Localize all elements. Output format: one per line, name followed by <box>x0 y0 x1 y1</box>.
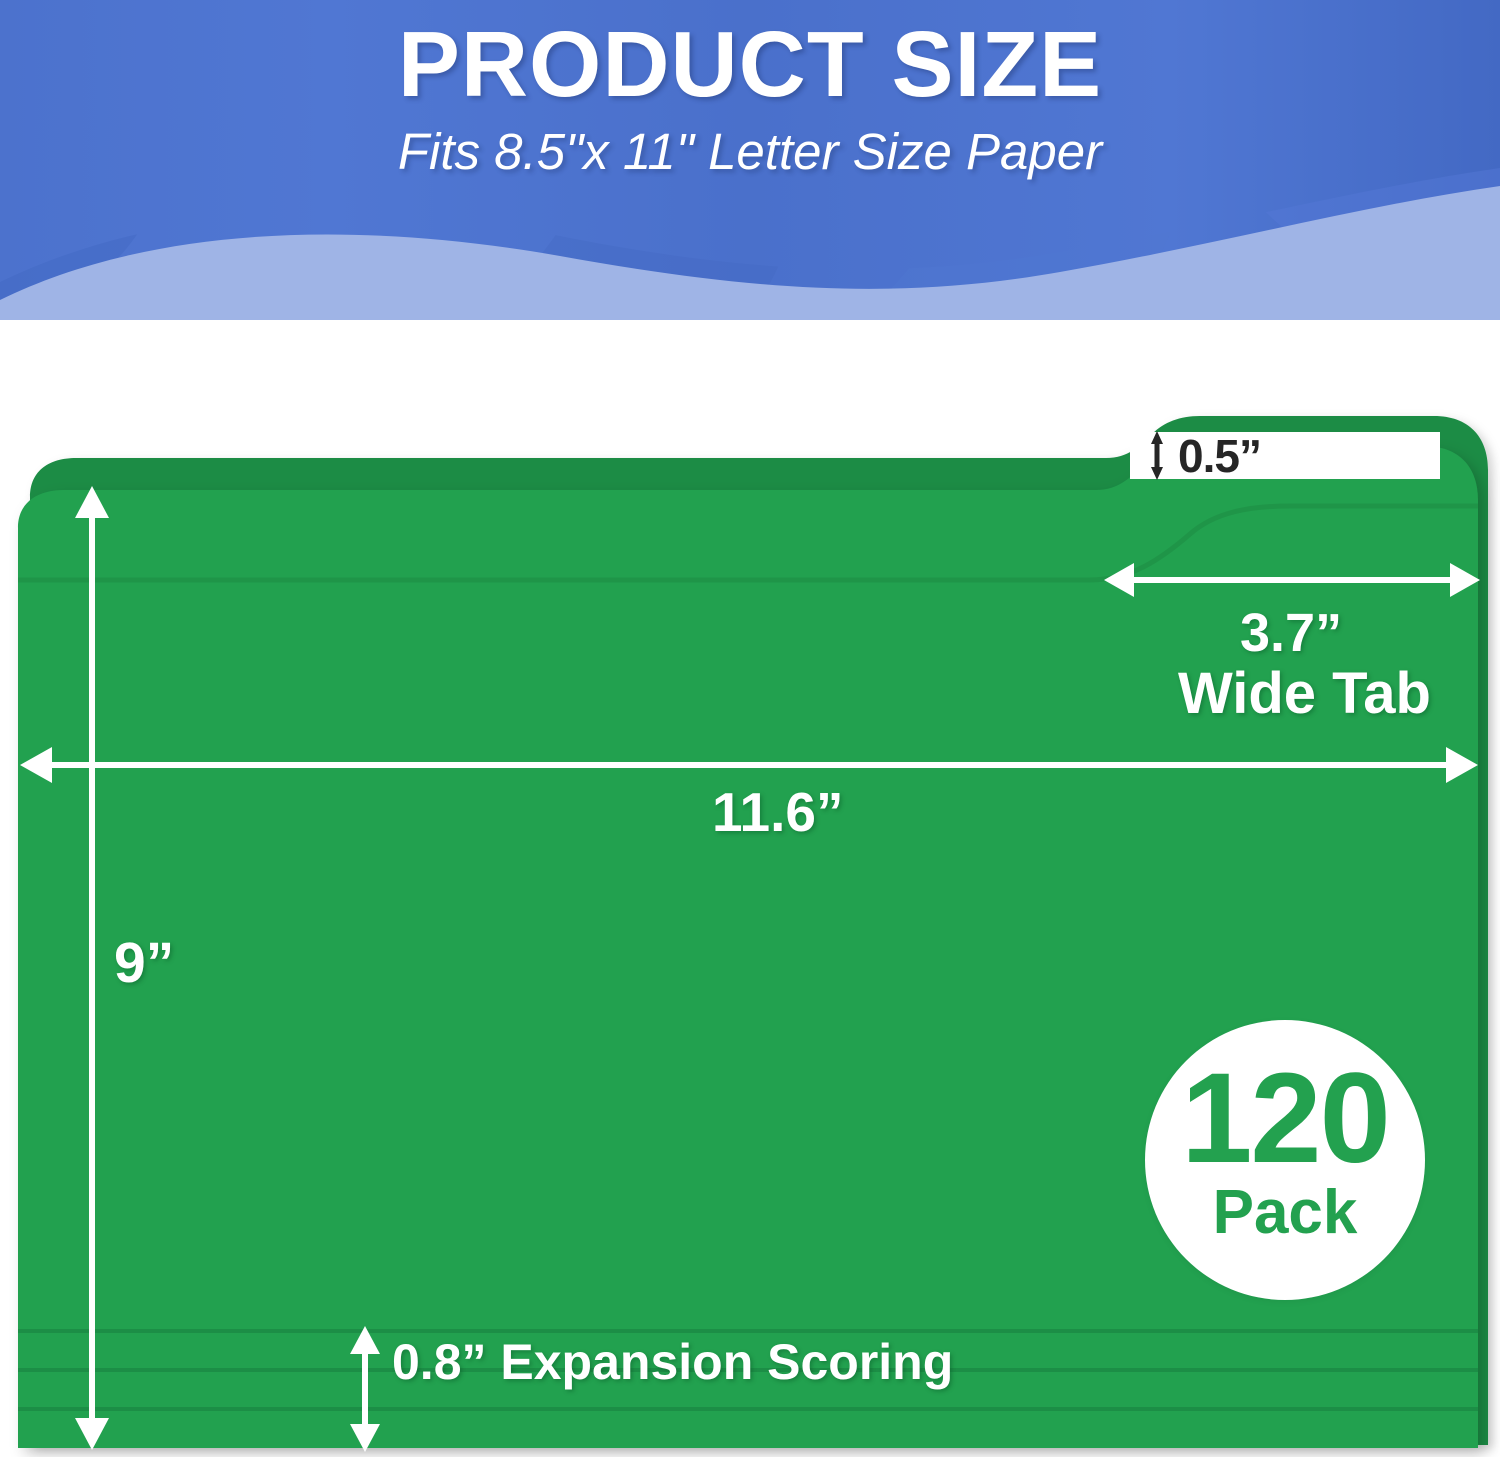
header-text-block: PRODUCT SIZE Fits 8.5"x 11" Letter Size … <box>0 0 1500 181</box>
page-title: PRODUCT SIZE <box>0 0 1500 114</box>
pack-count-badge: 120 Pack <box>1145 1020 1425 1300</box>
pack-count-number: 120 <box>1145 1020 1425 1180</box>
tab-width-label: 3.7” <box>1240 602 1342 664</box>
pack-count-unit: Pack <box>1145 1182 1425 1244</box>
wide-tab-caption: Wide Tab <box>1178 660 1431 727</box>
tab-height-label: 0.5” <box>1178 432 1428 480</box>
expansion-scoring-label: 0.8” Expansion Scoring <box>392 1333 953 1391</box>
page-subtitle: Fits 8.5"x 11" Letter Size Paper <box>0 114 1500 180</box>
folder-width-label: 11.6” <box>712 780 844 844</box>
product-size-infographic: PRODUCT SIZE Fits 8.5"x 11" Letter Size … <box>0 0 1500 1457</box>
folder-height-label: 9” <box>114 930 174 996</box>
